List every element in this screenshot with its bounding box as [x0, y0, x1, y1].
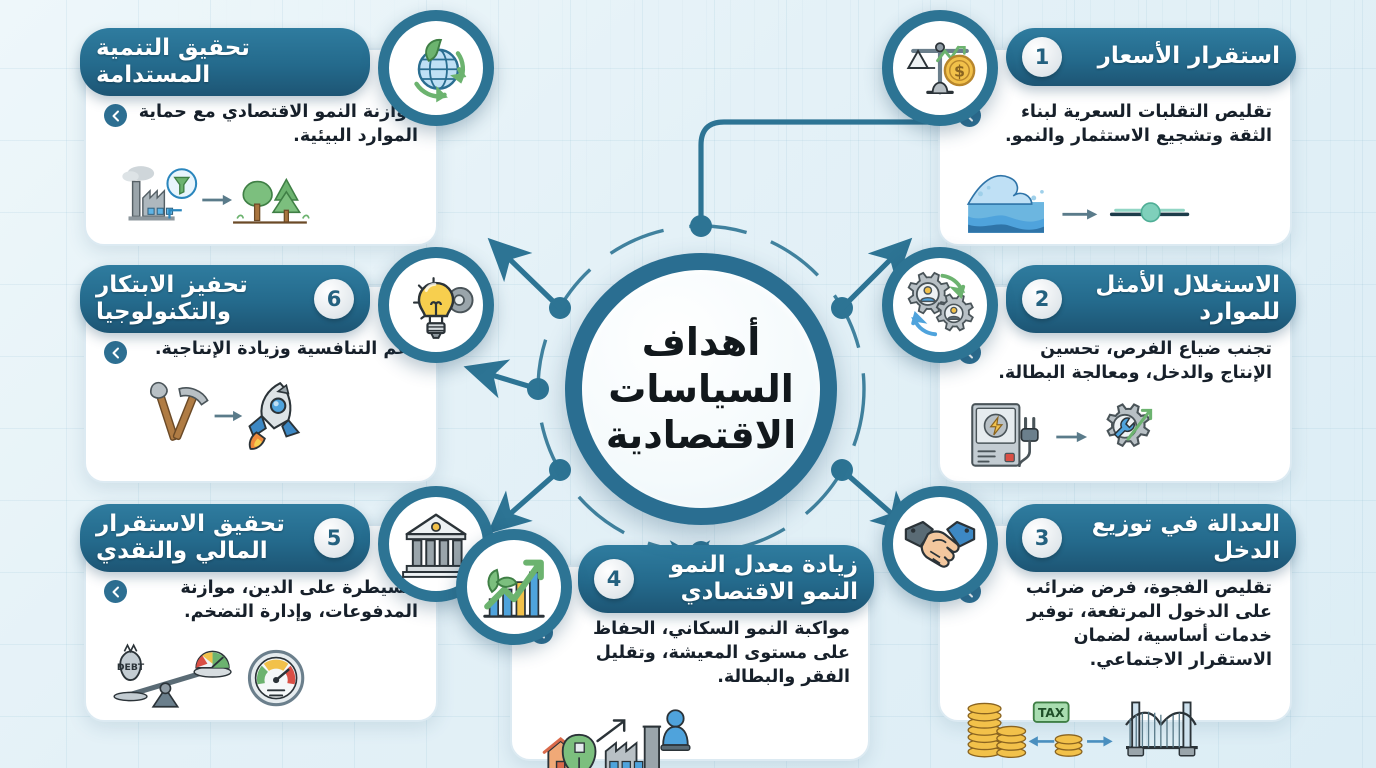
card-description: تقليص التقلبات السعرية لبناء الثقة وتشجي… [990, 100, 1272, 148]
card-title: العدالة في توزيع الدخل [1074, 511, 1280, 565]
card-description: موازنة النمو الاقتصادي مع حماية الموارد … [136, 100, 418, 148]
card-number-badge: 6 [314, 279, 354, 319]
svg-text:$: $ [954, 62, 965, 81]
chevron-left-icon [104, 104, 127, 127]
svg-text:TAX: TAX [1038, 705, 1065, 719]
scale-money-icon: $ [882, 10, 998, 126]
card-number-badge: 5 [314, 518, 354, 558]
factory-filter-to-forest-icon [104, 156, 418, 244]
card-title: تحقيق التنمية المستدامة [96, 35, 354, 89]
card-income-distribution-equity[interactable]: 3 العدالة في توزيع الدخل تقليص الفجوة، ف… [938, 524, 1292, 722]
debt-seesaw-gauge-icon: DEBT [104, 632, 418, 720]
card-header: 5 تحقيق الاستقرار المالي والنقدي [80, 504, 370, 572]
card-innovation-technology[interactable]: 6 تحفيز الابتكار والتكنولوجيا [84, 285, 438, 483]
card-title: تحفيز الابتكار والتكنولوجيا [96, 272, 302, 326]
chevron-left-icon [104, 580, 127, 603]
globe-recycle-leaf-icon [378, 10, 494, 126]
hub-title: أهداف السياسات الاقتصادية [582, 319, 820, 458]
card-financial-monetary-stability[interactable]: 5 تحقيق الاستقرار المالي والنقدي [84, 524, 438, 722]
wave-to-flat-line-icon [958, 156, 1272, 244]
card-title: زيادة معدل النمو النمو الاقتصادي [646, 552, 858, 606]
card-number-badge: 3 [1022, 518, 1062, 558]
center-hub: أهداف السياسات الاقتصادية [565, 253, 837, 525]
card-header: 6 تحفيز الابتكار والتكنولوجيا [80, 265, 370, 333]
connector-to-sustainable [494, 244, 560, 308]
card-title: استقرار الأسعار [1074, 43, 1280, 70]
coins-tax-bridge-icon: TAX [958, 681, 1272, 768]
card-header: تحقيق التنمية المستدامة [80, 28, 370, 96]
card-number-badge: 2 [1022, 279, 1062, 319]
svg-text:DEBT: DEBT [117, 662, 145, 673]
card-description: دعم التنافسية وزيادة الإنتاجية. [136, 337, 418, 361]
card-description: تقليص الفجوة، فرض ضرائب على الدخول المرت… [990, 576, 1272, 673]
card-description: مواكبة النمو السكاني، الحفاظ على مستوى ا… [562, 617, 850, 689]
card-header: 4 زيادة معدل النمو النمو الاقتصادي [578, 545, 874, 613]
card-economic-growth-rate[interactable]: 4 زيادة معدل النمو النمو الاقتصادي [510, 565, 870, 761]
handshake-icon [882, 486, 998, 602]
connector-to-financial [494, 470, 560, 528]
card-title: الاستغلال الأمثل للموارد [1074, 272, 1280, 326]
lightbulb-gear-icon [378, 247, 494, 363]
card-header: 2 الاستغلال الأمثل للموارد [1006, 265, 1296, 333]
card-description: السيطرة على الدين، موازنة المدفوعات، وإد… [136, 576, 418, 624]
card-header: 3 العدالة في توزيع الدخل [1006, 504, 1296, 572]
card-number-badge: 4 [594, 559, 634, 599]
connector-to-innovation [472, 369, 538, 389]
card-price-stability[interactable]: 1 استقرار الأسعار $ [938, 48, 1292, 246]
card-header: 1 استقرار الأسعار [1006, 28, 1296, 86]
card-description: تجنب ضياع الفرص، تحسين الإنتاج والدخل، و… [990, 337, 1272, 385]
infographic-canvas: أهداف السياسات الاقتصادية تحقيق التنمية … [0, 0, 1376, 768]
growth-chart-plant-icon [456, 529, 572, 645]
power-unit-to-gear-icon [958, 393, 1272, 481]
pickaxe-to-rocket-icon [104, 372, 418, 460]
card-sustainable-development[interactable]: تحقيق التنمية المستدامة موازنة النمو الا… [84, 48, 438, 246]
card-optimal-resource-use[interactable]: 2 الاستغلال الأمثل للموارد [938, 285, 1292, 483]
city-factory-population-icon [530, 697, 850, 768]
card-number-badge: 1 [1022, 37, 1062, 77]
chevron-left-icon [104, 341, 127, 364]
card-title: تحقيق الاستقرار المالي والنقدي [96, 511, 302, 565]
people-gears-cycle-icon [882, 247, 998, 363]
